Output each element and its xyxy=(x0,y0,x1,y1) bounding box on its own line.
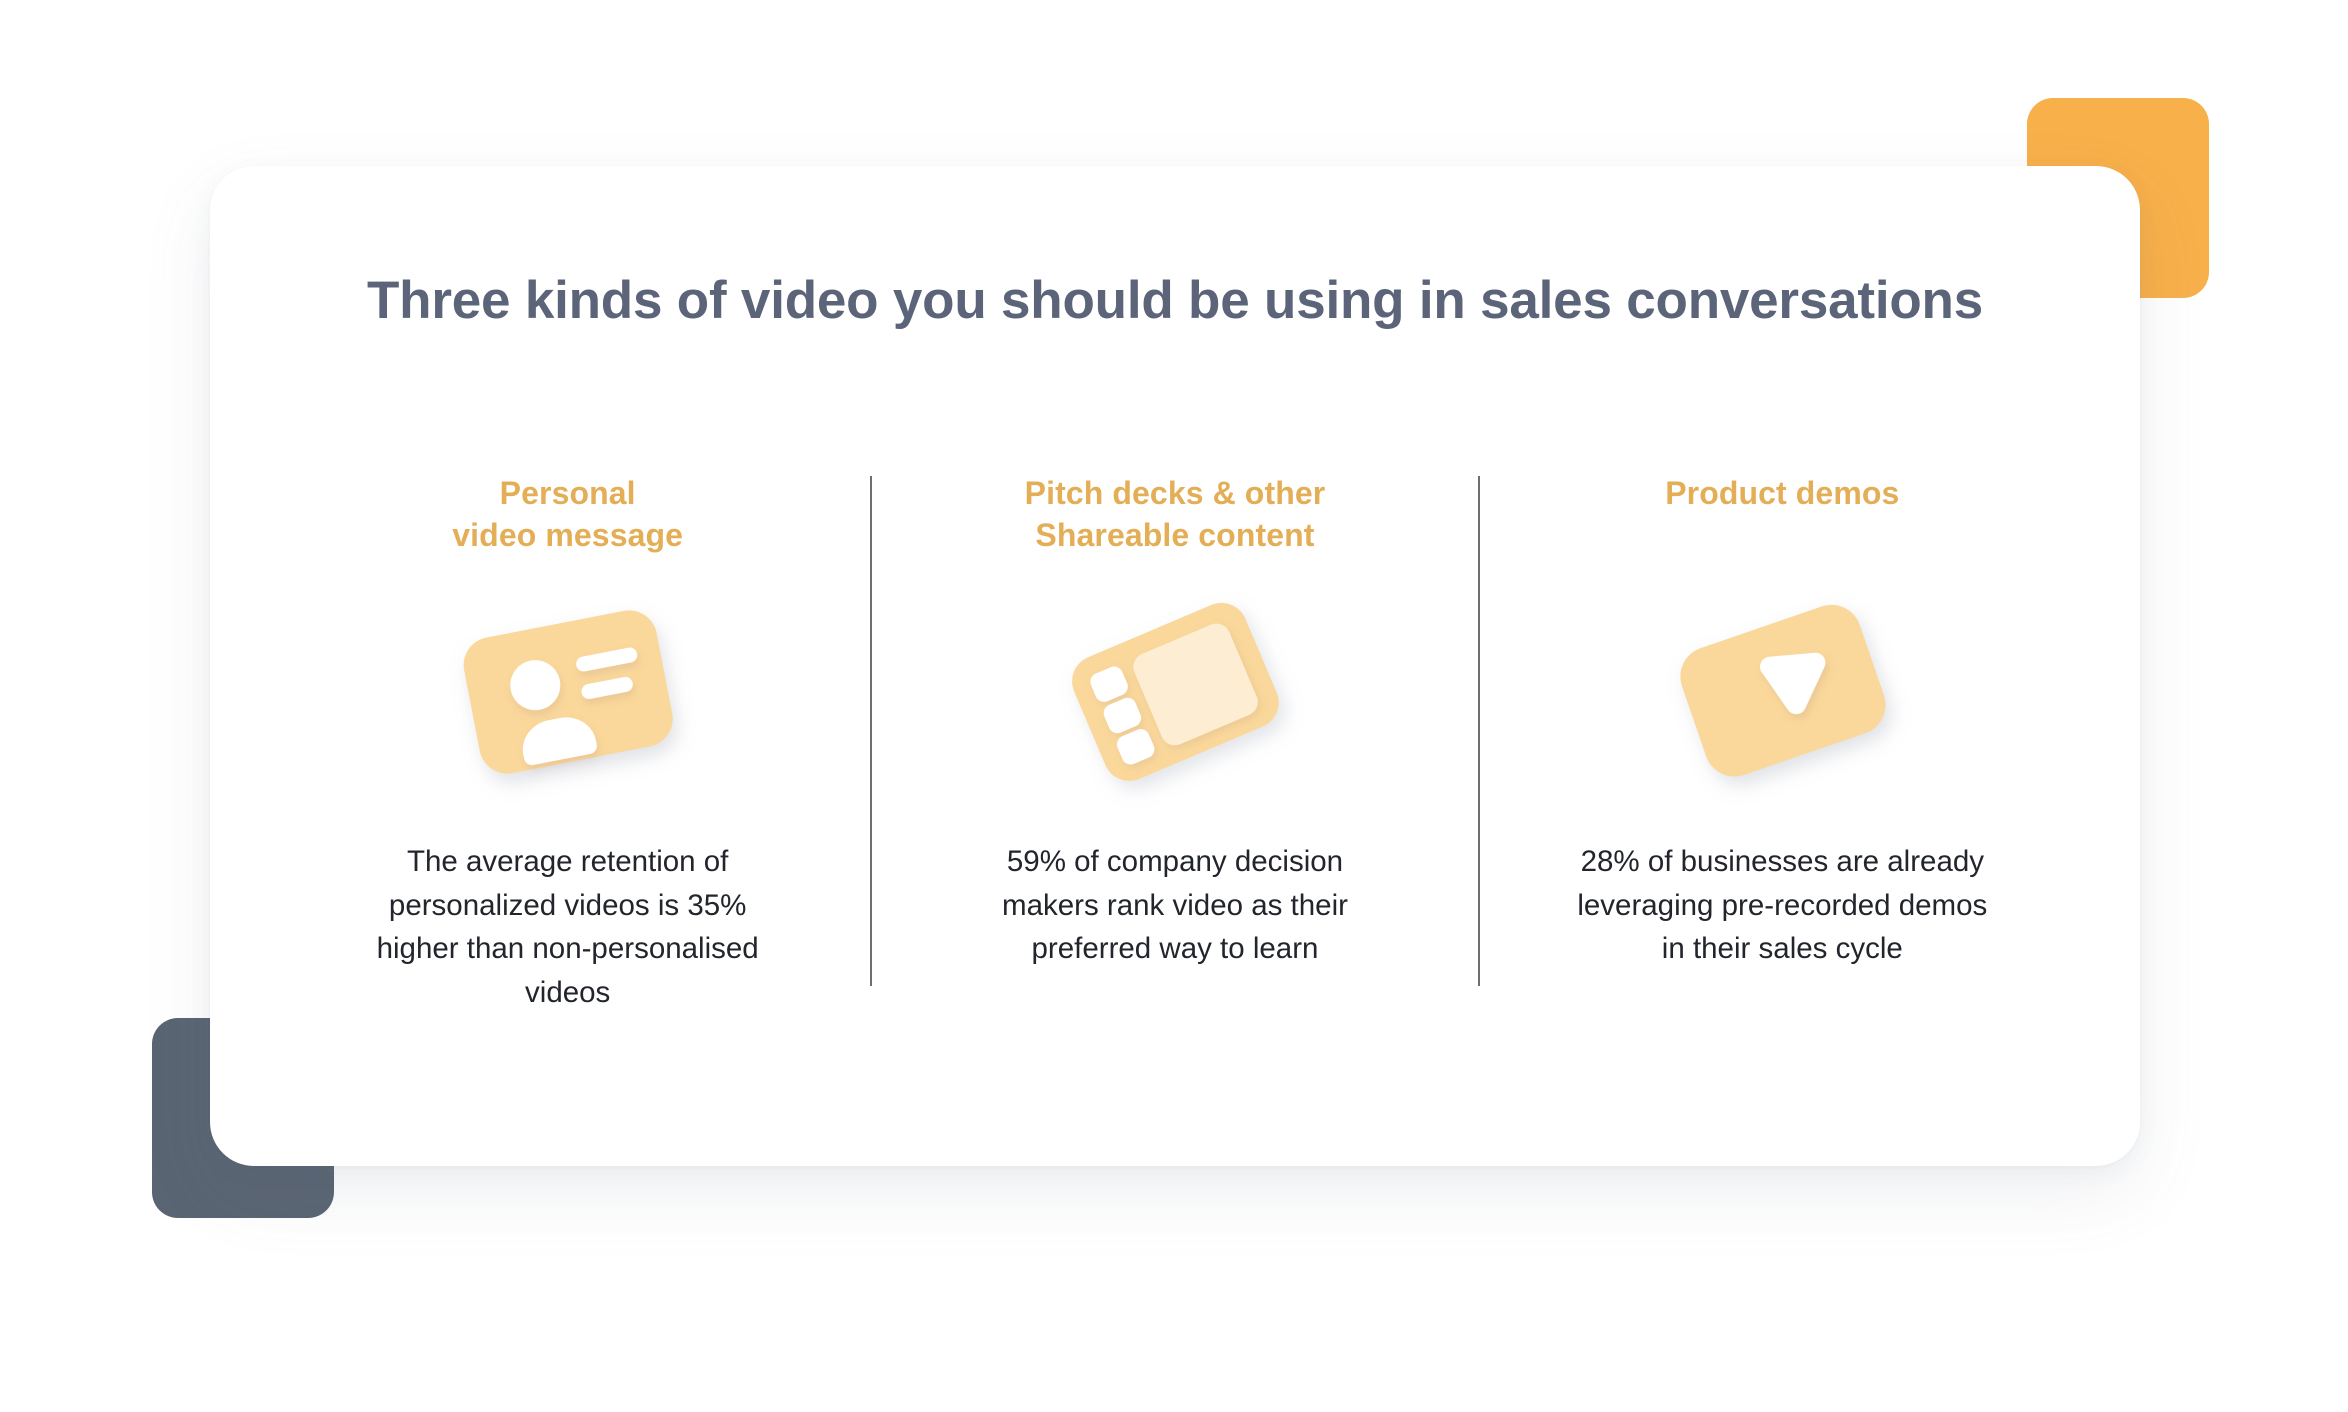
columns-row: Personal video message xyxy=(265,472,2085,1015)
column-heading-line-1: Pitch decks & other xyxy=(1025,472,1326,514)
column-heading-line-1: Personal xyxy=(452,472,683,514)
personal-video-message-icon xyxy=(418,576,718,806)
column-heading: Product demos xyxy=(1665,472,1899,564)
page-title: Three kinds of video you should be using… xyxy=(210,270,2140,331)
column-heading: Personal video message xyxy=(452,472,683,564)
column-heading: Pitch decks & other Shareable content xyxy=(1025,472,1326,564)
column-heading-line-1: Product demos xyxy=(1665,472,1899,514)
column-heading-line-2: video message xyxy=(452,514,683,556)
column-body-text: 59% of company decision makers rank vide… xyxy=(975,840,1375,971)
slide-canvas: Three kinds of video you should be using… xyxy=(0,0,2348,1412)
column-body-text: 28% of businesses are already leveraging… xyxy=(1572,840,1992,971)
pitch-deck-slides-icon xyxy=(1025,576,1325,806)
column-heading-line-2: Shareable content xyxy=(1025,514,1326,556)
column-body-text: The average retention of personalized vi… xyxy=(358,840,778,1015)
product-demo-play-icon xyxy=(1632,576,1932,806)
column-pitch-decks: Pitch decks & other Shareable content xyxy=(872,472,1477,971)
column-product-demos: Product demos xyxy=(1480,472,2085,971)
column-personal-video-message: Personal video message xyxy=(265,472,870,1015)
content-card: Three kinds of video you should be using… xyxy=(210,166,2140,1166)
